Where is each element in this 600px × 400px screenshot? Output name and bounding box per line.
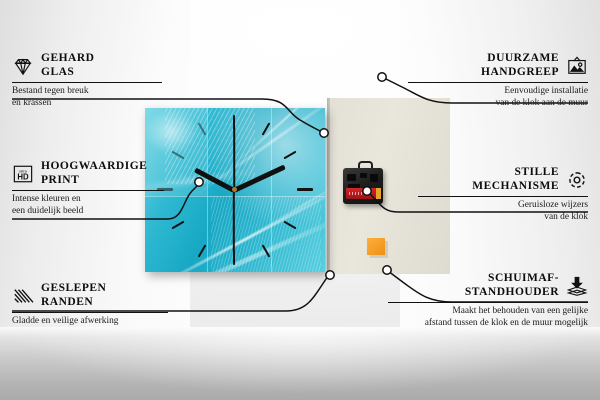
battery-positive-terminal: [376, 188, 381, 199]
feature-title-line2: PRINT: [41, 174, 79, 186]
clock-tick: [198, 244, 207, 257]
feature-schuimafstandhouder: SCHUIMAF- STANDHOUDER Maakt het behouden…: [388, 272, 588, 329]
feature-desc-line2: van de klok aan de muur: [496, 98, 588, 108]
clock-tick: [233, 250, 235, 265]
clock-second-hand-tail: [233, 128, 235, 190]
feature-rule: [12, 312, 168, 313]
feature-desc-line1: Bestand tegen breuk: [12, 86, 89, 96]
feature-desc-line1: Geruisloze wijzers: [518, 200, 588, 210]
feature-rule: [418, 196, 588, 197]
feature-desc-line2: van de klok: [544, 212, 588, 222]
svg-text:HD: HD: [17, 172, 29, 181]
feature-title-line1: DUURZAME: [487, 52, 559, 64]
feature-desc-line2: een duidelijk beeld: [12, 206, 83, 216]
diamond-icon: [12, 56, 34, 76]
feature-rule: [388, 302, 588, 303]
feature-title-line2: GLAS: [41, 66, 74, 78]
gear-icon: [566, 170, 588, 190]
feature-title-line2: STANDHOUDER: [465, 286, 559, 298]
feature-title-line1: GESLEPEN: [41, 282, 106, 294]
feature-geslepen-randen: GESLEPEN RANDEN Gladde en veilige afwerk…: [12, 282, 202, 328]
feature-title-line1: STILLE: [514, 166, 559, 178]
feature-title-line2: HANDGREEP: [481, 66, 559, 78]
clock-second-hand: [233, 190, 235, 252]
feature-desc-line2: en krassen: [12, 98, 51, 108]
foam-spacer: [367, 238, 385, 255]
feature-desc-line1: Maakt het behouden van een gelijke: [452, 306, 588, 316]
feature-rule: [12, 190, 164, 191]
feature-desc-line1: Gladde en veilige afwerking: [12, 316, 118, 326]
feature-desc-line1: Intense kleuren en: [12, 194, 81, 204]
clock-battery: [346, 188, 380, 199]
diagonal-lines-icon: [12, 286, 34, 306]
feature-stille-mechanisme: STILLE MECHANISME Geruisloze wijzers van…: [418, 166, 588, 223]
clock-tick: [283, 151, 296, 160]
clock-hand-hub: [232, 187, 237, 192]
feature-rule: [408, 82, 588, 83]
feature-title-line2: RANDEN: [41, 296, 93, 308]
product-infographic: GEHARD GLAS Bestand tegen breuk en krass…: [0, 0, 600, 400]
background-floor-glow: [0, 327, 600, 400]
feature-title-line1: GEHARD: [41, 52, 94, 64]
feature-hoogwaardige-print: ultra HD HOOGWAARDIGE PRINT Intense kleu…: [12, 160, 192, 217]
clock-tick: [297, 188, 313, 191]
feature-title-line1: SCHUIMAF-: [488, 272, 559, 284]
feature-duurzame-handgreep: DUURZAME HANDGREEP Eenvoudige installati…: [408, 52, 588, 109]
feature-gehard-glas: GEHARD GLAS Bestand tegen breuk en krass…: [12, 52, 184, 109]
feature-desc-line1: Eenvoudige installatie: [504, 86, 588, 96]
ultra-hd-icon: ultra HD: [12, 164, 34, 184]
picture-frame-icon: [566, 56, 588, 76]
feature-rule: [12, 82, 162, 83]
feature-desc-line2: afstand tussen de klok en de muur mogeli…: [425, 318, 588, 328]
feature-title-line2: MECHANISME: [472, 180, 559, 192]
feature-title-line1: HOOGWAARDIGE: [41, 160, 147, 172]
stack-down-arrow-icon: [566, 276, 588, 296]
